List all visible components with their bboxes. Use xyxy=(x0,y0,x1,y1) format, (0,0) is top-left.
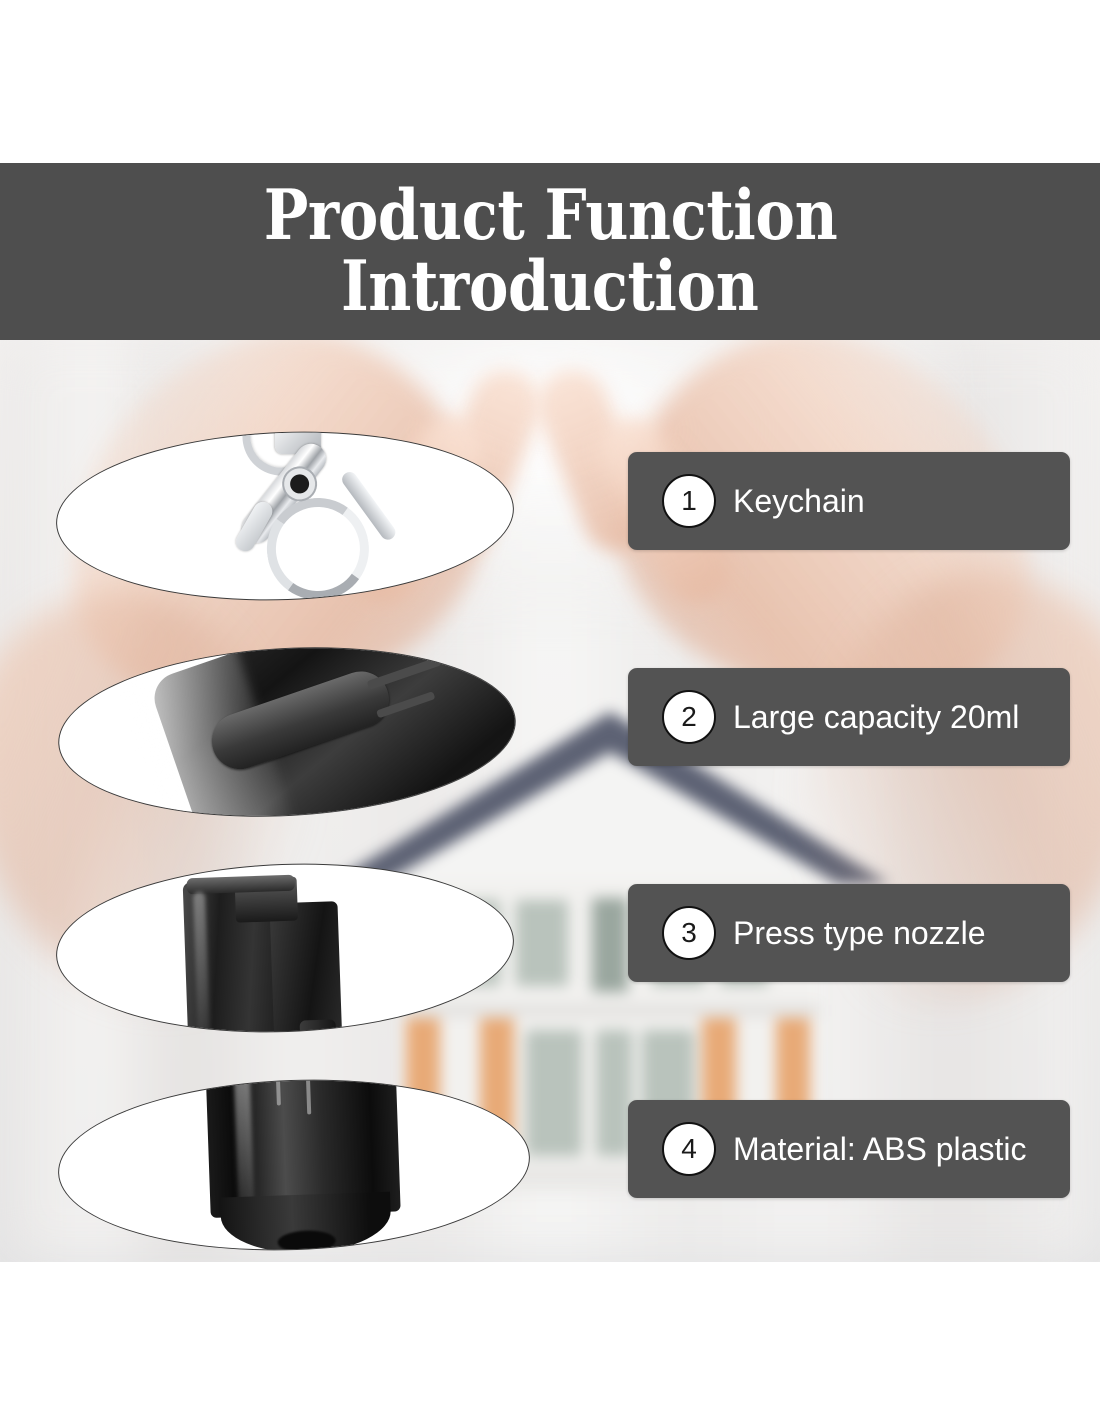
feature-label-3: Press type nozzle xyxy=(733,915,986,952)
feature-photo-oval-2 xyxy=(54,636,520,828)
feature-photo-oval-3 xyxy=(53,856,517,1040)
page-title-line-1: Product Function xyxy=(263,183,837,249)
feature-number-badge-3: 3 xyxy=(662,906,716,960)
house-window xyxy=(592,898,628,992)
feature-number-badge-4: 4 xyxy=(662,1122,716,1176)
bottle-base-photo xyxy=(56,1073,532,1257)
feature-photo-oval-4 xyxy=(55,1072,533,1258)
house-window xyxy=(526,1030,582,1156)
feature-number-badge-1: 1 xyxy=(662,474,716,528)
feature-label-row-1[interactable]: 1 Keychain xyxy=(628,452,1070,550)
feature-label-4: Material: ABS plastic xyxy=(733,1131,1026,1168)
feature-photo-oval-1 xyxy=(53,424,517,608)
feature-label-1: Keychain xyxy=(733,483,865,520)
bottle-body-photo xyxy=(55,637,519,827)
feature-label-2: Large capacity 20ml xyxy=(733,699,1019,736)
page-title-line-2: Introduction xyxy=(341,254,758,320)
bottle-base-graphic xyxy=(205,1072,402,1258)
header-banner: Product Function Introduction xyxy=(0,163,1100,340)
feature-label-row-3[interactable]: 3 Press type nozzle xyxy=(628,884,1070,982)
feature-number-badge-2: 2 xyxy=(662,690,716,744)
feature-label-row-4[interactable]: 4 Material: ABS plastic xyxy=(628,1100,1070,1198)
keychain-clasp-graphic xyxy=(187,424,456,608)
house-window xyxy=(596,1030,632,1156)
press-nozzle-graphic xyxy=(172,869,359,1040)
feature-label-row-2[interactable]: 2 Large capacity 20ml xyxy=(628,668,1070,766)
product-photo-stage: 1 Keychain 2 Large capacity 20ml 3 Press… xyxy=(0,340,1100,1262)
infographic-page: Product Function Introduction xyxy=(0,0,1100,1422)
house-window xyxy=(516,900,568,986)
press-nozzle-photo xyxy=(54,857,516,1039)
keychain-clasp-photo xyxy=(54,425,516,607)
